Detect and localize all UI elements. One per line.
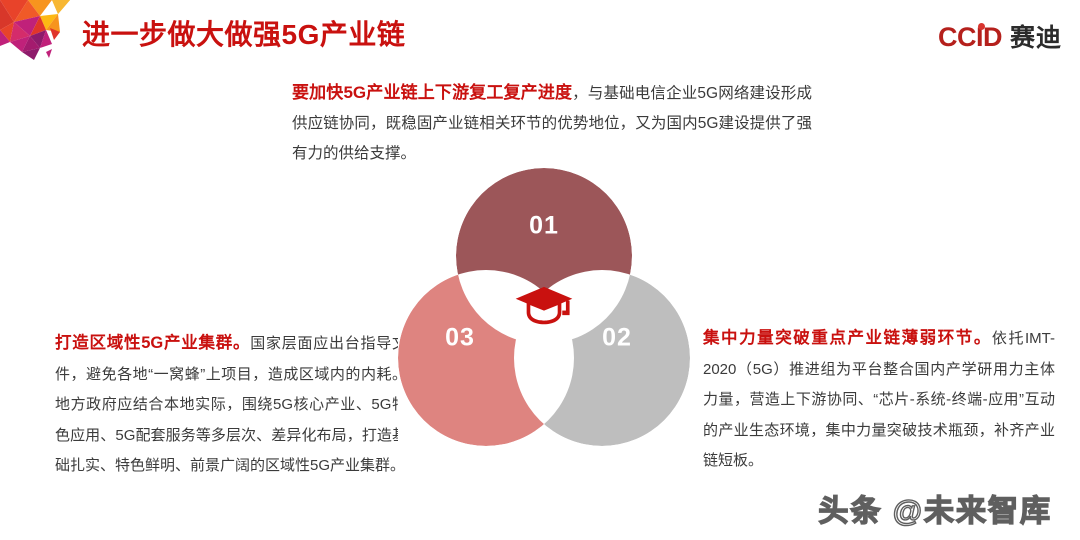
polygonal-corner-graphic	[0, 0, 78, 62]
venn-diagram: 01 02 03	[398, 168, 690, 460]
watermark-text: 头条 @未来智库	[818, 486, 1052, 530]
text-block-top: 要加快5G产业链上下游复工复产进度，与基础电信企业5G网络建设形成供应链协同，既…	[292, 78, 812, 169]
graduation-cap-icon	[514, 285, 574, 327]
slide-canvas: 进一步做大做强5G产业链 CCID 赛迪 要加快5G产业链上下游复工复产进度，与…	[0, 0, 1080, 540]
text-block-top-strong: 要加快5G产业链上下游复工复产进度	[292, 83, 572, 102]
ccid-wordmark: CCID	[938, 22, 1002, 53]
brand-name-cn: 赛迪	[1010, 18, 1062, 54]
brand-logo: CCID 赛迪	[938, 18, 1062, 54]
ccid-wordmark-text: CCID	[938, 22, 1002, 52]
text-block-right: 集中力量突破重点产业链薄弱环节。依托IMT-2020（5G）推进组为平台整合国内…	[703, 323, 1055, 477]
text-block-left-strong: 打造区域性5G产业集群。	[55, 334, 250, 352]
text-block-left-body: 国家层面应出台指导文件，避免各地“一窝蜂”上项目，造成区域内的内耗。地方政府应结…	[55, 335, 407, 474]
text-block-right-body: 依托IMT-2020（5G）推进组为平台整合国内产学研用力主体力量，营造上下游协…	[703, 330, 1055, 469]
text-block-left: 打造区域性5G产业集群。国家层面应出台指导文件，避免各地“一窝蜂”上项目，造成区…	[55, 328, 407, 482]
text-block-right-strong: 集中力量突破重点产业链薄弱环节。	[703, 329, 992, 347]
page-title: 进一步做大做强5G产业链	[82, 13, 405, 53]
